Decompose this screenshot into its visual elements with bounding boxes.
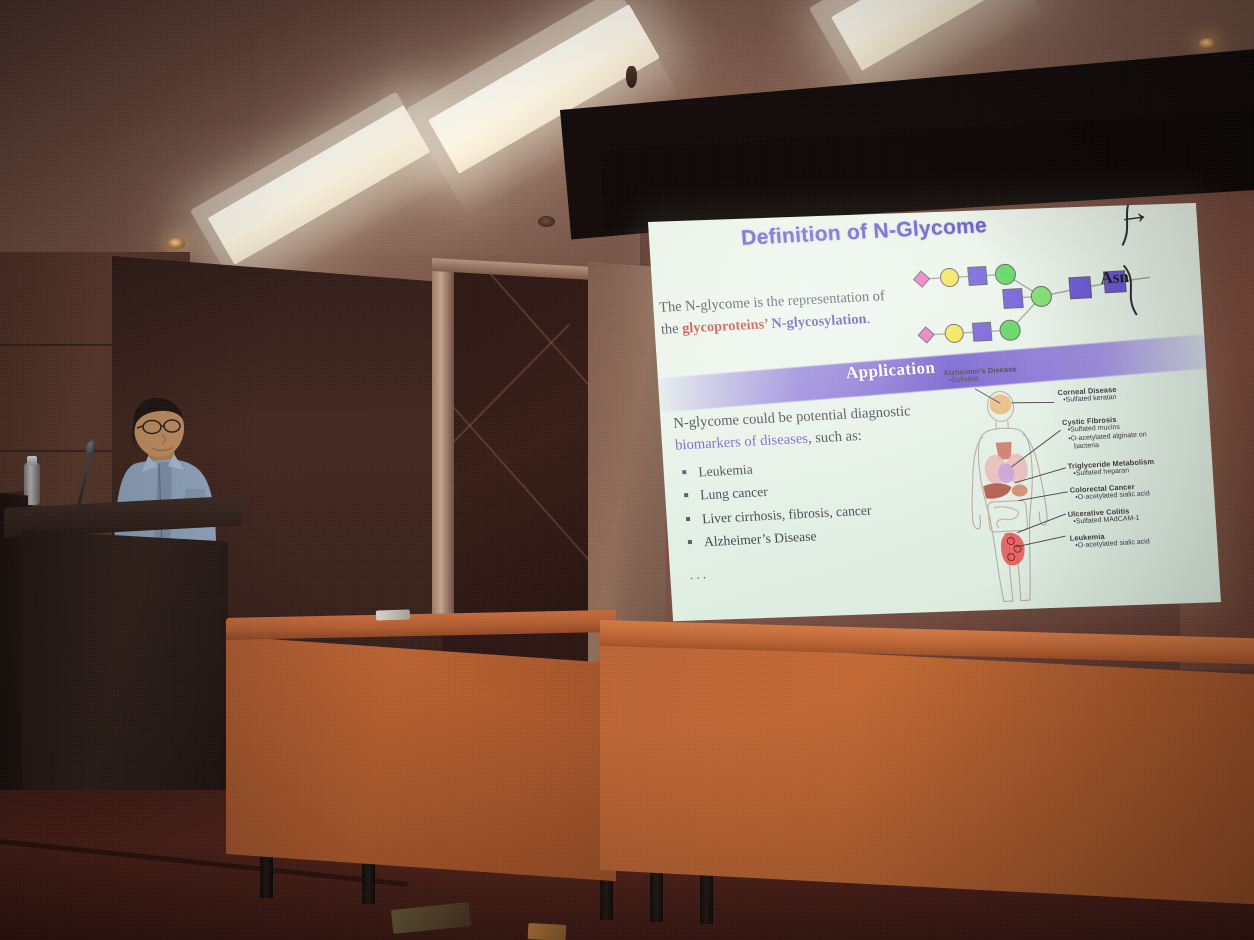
application-suchas: , such as:	[807, 428, 862, 447]
conference-table-right-front	[600, 640, 1254, 905]
annotation-alzheimers: Alzheimer's Disease •Sulfatide	[943, 364, 1017, 386]
projection-screen: Definition of N-Glycome The N-glycome is…	[648, 203, 1221, 621]
bullet-ellipsis: ...	[689, 550, 976, 586]
alcove-frame-left	[432, 262, 454, 635]
definition-period: .	[866, 311, 871, 327]
slide-title: Definition of N-Glycome	[740, 214, 988, 251]
glycan-blue-square-upper	[968, 266, 987, 285]
annotation-triglyceride: Triglyceride Metabolism •Sulfated hepara…	[1067, 457, 1155, 479]
liver-organ	[983, 482, 1012, 498]
spotlight-4	[538, 216, 555, 227]
peptide-backbone-braces	[1109, 203, 1163, 322]
wall-alcove	[452, 270, 592, 633]
glycan-blue-square-core-1	[1069, 277, 1092, 299]
conference-room-photo: Definition of N-Glycome The N-glycome is…	[0, 0, 1254, 940]
annotation-corneal: Corneal Disease •Sulfated keratan	[1057, 385, 1117, 406]
spotlight-1	[1199, 38, 1216, 49]
application-biomarkers: biomarkers of diseases	[675, 431, 809, 454]
definition-nglycosylation: N-glycosylation	[767, 311, 867, 332]
bottle-cap	[27, 456, 37, 465]
slide-definition-text: The N-glycome is the representation of t…	[658, 284, 921, 341]
annotation-ulcerative-colitis: Ulcerative Colitis •Sulfated MAdCAM-1	[1067, 506, 1140, 527]
definition-line-2-prefix: the	[660, 321, 682, 338]
brain-organ	[989, 394, 1013, 415]
disease-figure-area: Alzheimer's Disease •Sulfatide Corneal D…	[952, 364, 1221, 607]
glycan-yellow-circle-upper	[940, 268, 959, 287]
remote-control[interactable]	[376, 609, 410, 620]
intestines-organ	[988, 500, 1028, 532]
definition-glycoproteins: glycoproteins’	[681, 316, 768, 336]
disease-bullet-list: Leukemia Lung cancer Liver cirrhosis, fi…	[677, 448, 974, 553]
annotation-leukemia: Leukemia •O-acetylated sialic acid	[1069, 529, 1150, 551]
slide-application-text: N-glycome could be potential diagnostic …	[673, 399, 976, 587]
stomach-organ	[1011, 484, 1028, 497]
glycan-pink-diamond-upper	[913, 271, 930, 288]
slide-surface: Definition of N-Glycome The N-glycome is…	[648, 203, 1221, 621]
human-body-figure	[953, 385, 1063, 607]
spotlight-5	[168, 238, 185, 249]
annotation-colorectal: Colorectal Cancer •O-acetylated sialic a…	[1069, 481, 1150, 503]
glycan-blue-square-lower	[972, 322, 991, 341]
bone-marrow-organ	[1000, 532, 1026, 566]
glycan-yellow-circle-lower	[944, 324, 963, 343]
speaker-podium	[22, 530, 228, 832]
glycan-pink-diamond-lower	[918, 326, 935, 343]
glycan-blue-square-branch	[1003, 289, 1024, 309]
sprinkler-head	[626, 66, 637, 88]
conference-table-left-front	[226, 636, 616, 881]
annotation-cystic-fibrosis: Cystic Fibrosis •Sulfated mucins •O-acet…	[1062, 413, 1148, 452]
wooden-block	[528, 923, 567, 940]
glycan-green-circle-upper	[995, 264, 1017, 285]
